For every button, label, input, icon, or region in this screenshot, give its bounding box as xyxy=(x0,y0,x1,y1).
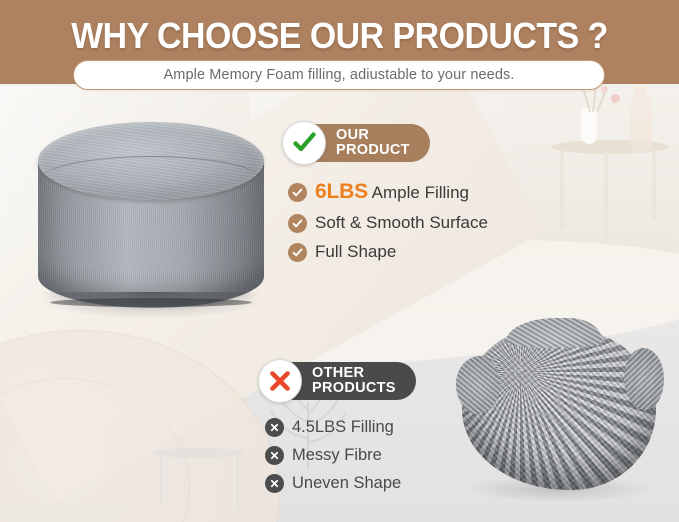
other-products-badge: OTHER PRODUCTS xyxy=(266,362,416,400)
background-table-bottom xyxy=(152,448,244,458)
our-product-badge-label: OUR PRODUCT xyxy=(336,128,410,158)
list-item: 6LBS Ample Filling xyxy=(288,180,488,204)
flower-bloom-1 xyxy=(611,94,620,103)
product-comparison-infographic: WHY CHOOSE OUR PRODUCTS ? Ample Memory F… xyxy=(0,0,679,522)
other-product-body xyxy=(462,326,656,490)
our-product-badge-line1: OUR xyxy=(336,128,410,143)
other-products-badge-line1: OTHER xyxy=(312,366,396,381)
our-feature-text-3: Full Shape xyxy=(315,242,396,262)
other-feature-text-2: Messy Fibre xyxy=(292,446,382,465)
other-products-badge-line2: PRODUCTS xyxy=(312,381,396,396)
page-title: WHY CHOOSE OUR PRODUCTS ? xyxy=(20,18,658,54)
our-product-badge: OUR PRODUCT xyxy=(290,124,430,162)
our-product-image xyxy=(32,116,270,324)
list-item: Uneven Shape xyxy=(265,474,401,493)
cross-circle-icon xyxy=(265,418,284,437)
our-product-seam xyxy=(40,156,262,204)
side-table-leg-back xyxy=(652,150,656,220)
check-circle-icon xyxy=(288,243,307,262)
other-product-image xyxy=(458,320,660,508)
our-feature-text-1: 6LBS Ample Filling xyxy=(315,180,469,204)
our-product-feature-list: 6LBS Ample Filling Soft & Smooth Surface… xyxy=(288,180,488,271)
our-feature-label-1: Ample Filling xyxy=(368,183,469,202)
side-table-leg-right xyxy=(604,150,608,236)
other-feature-text-1: 4.5LBS Filling xyxy=(292,418,394,437)
our-product-badge-line2: PRODUCT xyxy=(336,143,410,158)
list-item: Soft & Smooth Surface xyxy=(288,213,488,233)
check-circle-icon xyxy=(288,183,307,202)
subtitle-text: Ample Memory Foam filling, adiustable to… xyxy=(164,67,515,83)
list-item: Messy Fibre xyxy=(265,446,401,465)
decor-bottle xyxy=(630,95,652,153)
our-feature-highlight: 6LBS xyxy=(315,180,368,203)
our-product-base xyxy=(50,298,252,307)
list-item: Full Shape xyxy=(288,242,488,262)
background-table-bottom-leg-2 xyxy=(236,456,239,510)
our-feature-text-2: Soft & Smooth Surface xyxy=(315,213,488,233)
other-feature-text-3: Uneven Shape xyxy=(292,474,401,493)
list-item: 4.5LBS Filling xyxy=(265,418,401,437)
other-product-top-bump xyxy=(506,318,602,348)
cross-icon xyxy=(258,359,302,403)
side-table-leg-left xyxy=(560,150,564,228)
check-icon xyxy=(282,121,326,165)
flower-vase xyxy=(581,108,597,144)
subtitle-pill: Ample Memory Foam filling, adiustable to… xyxy=(73,60,605,90)
check-circle-icon xyxy=(288,214,307,233)
cross-circle-icon xyxy=(265,446,284,465)
cross-circle-icon xyxy=(265,474,284,493)
other-products-badge-label: OTHER PRODUCTS xyxy=(312,366,396,396)
other-products-feature-list: 4.5LBS Filling Messy Fibre Uneven Shape xyxy=(265,418,401,502)
flower-bloom-2 xyxy=(601,86,608,93)
background-table-bottom-leg-1 xyxy=(160,456,163,506)
